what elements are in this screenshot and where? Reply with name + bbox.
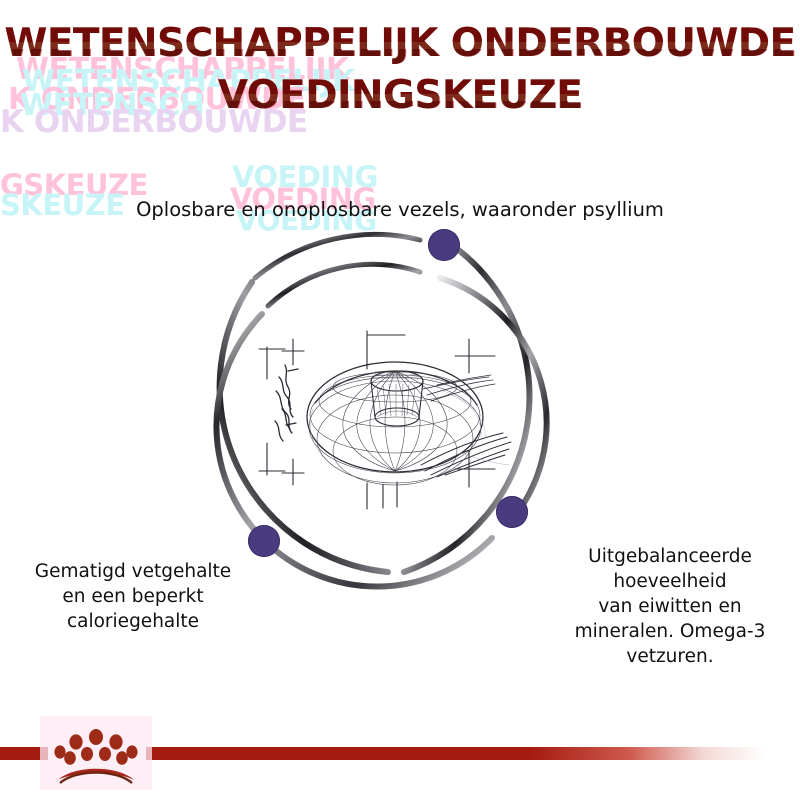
headline-line-2: VOEDINGSKEUZE VOEDINGSKEUZE VOEDINGSKEUZ… — [0, 71, 800, 121]
callout-left-line-2: en een beperkt — [8, 584, 258, 609]
callout-right-line-1: Uitgebalanceerde — [540, 544, 800, 569]
callout-right-line-3: van eiwitten en — [540, 594, 800, 619]
subtitle: Oplosbare en onoplosbare vezels, waarond… — [0, 198, 800, 221]
callout-right-line-5: vetzuren. — [540, 644, 800, 669]
royal-canin-crown-logo — [46, 722, 146, 784]
footer-rule-right — [146, 747, 766, 760]
callout-left-text: Gematigd vetgehalteen een beperktcalorie… — [8, 559, 258, 634]
headline-line-1: WETENSCHAPPELIJK ONDERBOUWDE WETENSCHAPP… — [0, 19, 800, 69]
poster-canvas: WETENSCHAPPELIJKWETENSCHAPPELIJKK ONDERB… — [0, 0, 800, 800]
callout-right-line-2: hoeveelheid — [540, 569, 800, 594]
kibble-technical-sketch-icon — [255, 325, 545, 510]
callout-right-line-4: mineralen. Omega-3 — [540, 619, 800, 644]
ghost-text-6: GSKEUZE — [0, 168, 148, 202]
ghost-text-8: VOEDING — [232, 160, 378, 194]
dimension-marks — [259, 331, 495, 509]
kibble-wireframe-longitudes — [343, 371, 447, 471]
callout-right-text: Uitgebalanceerdehoeveelheidvan eiwitten … — [540, 544, 800, 669]
highlight-dot-top — [428, 229, 460, 261]
highlight-dot-bottom-left — [248, 525, 280, 557]
headline-line-1-text: WETENSCHAPPELIJK ONDERBOUWDE WETENSCHAPP… — [0, 19, 800, 69]
callout-left-line-1: Gematigd vetgehalte — [8, 559, 258, 584]
kibble-wireframe-latitudes — [309, 372, 481, 485]
handwriting-annotation — [275, 365, 298, 441]
callout-left-line-3: caloriegehalte — [8, 609, 258, 634]
headline-line-2-text: VOEDINGSKEUZE VOEDINGSKEUZE VOEDINGSKEUZ… — [0, 71, 800, 121]
